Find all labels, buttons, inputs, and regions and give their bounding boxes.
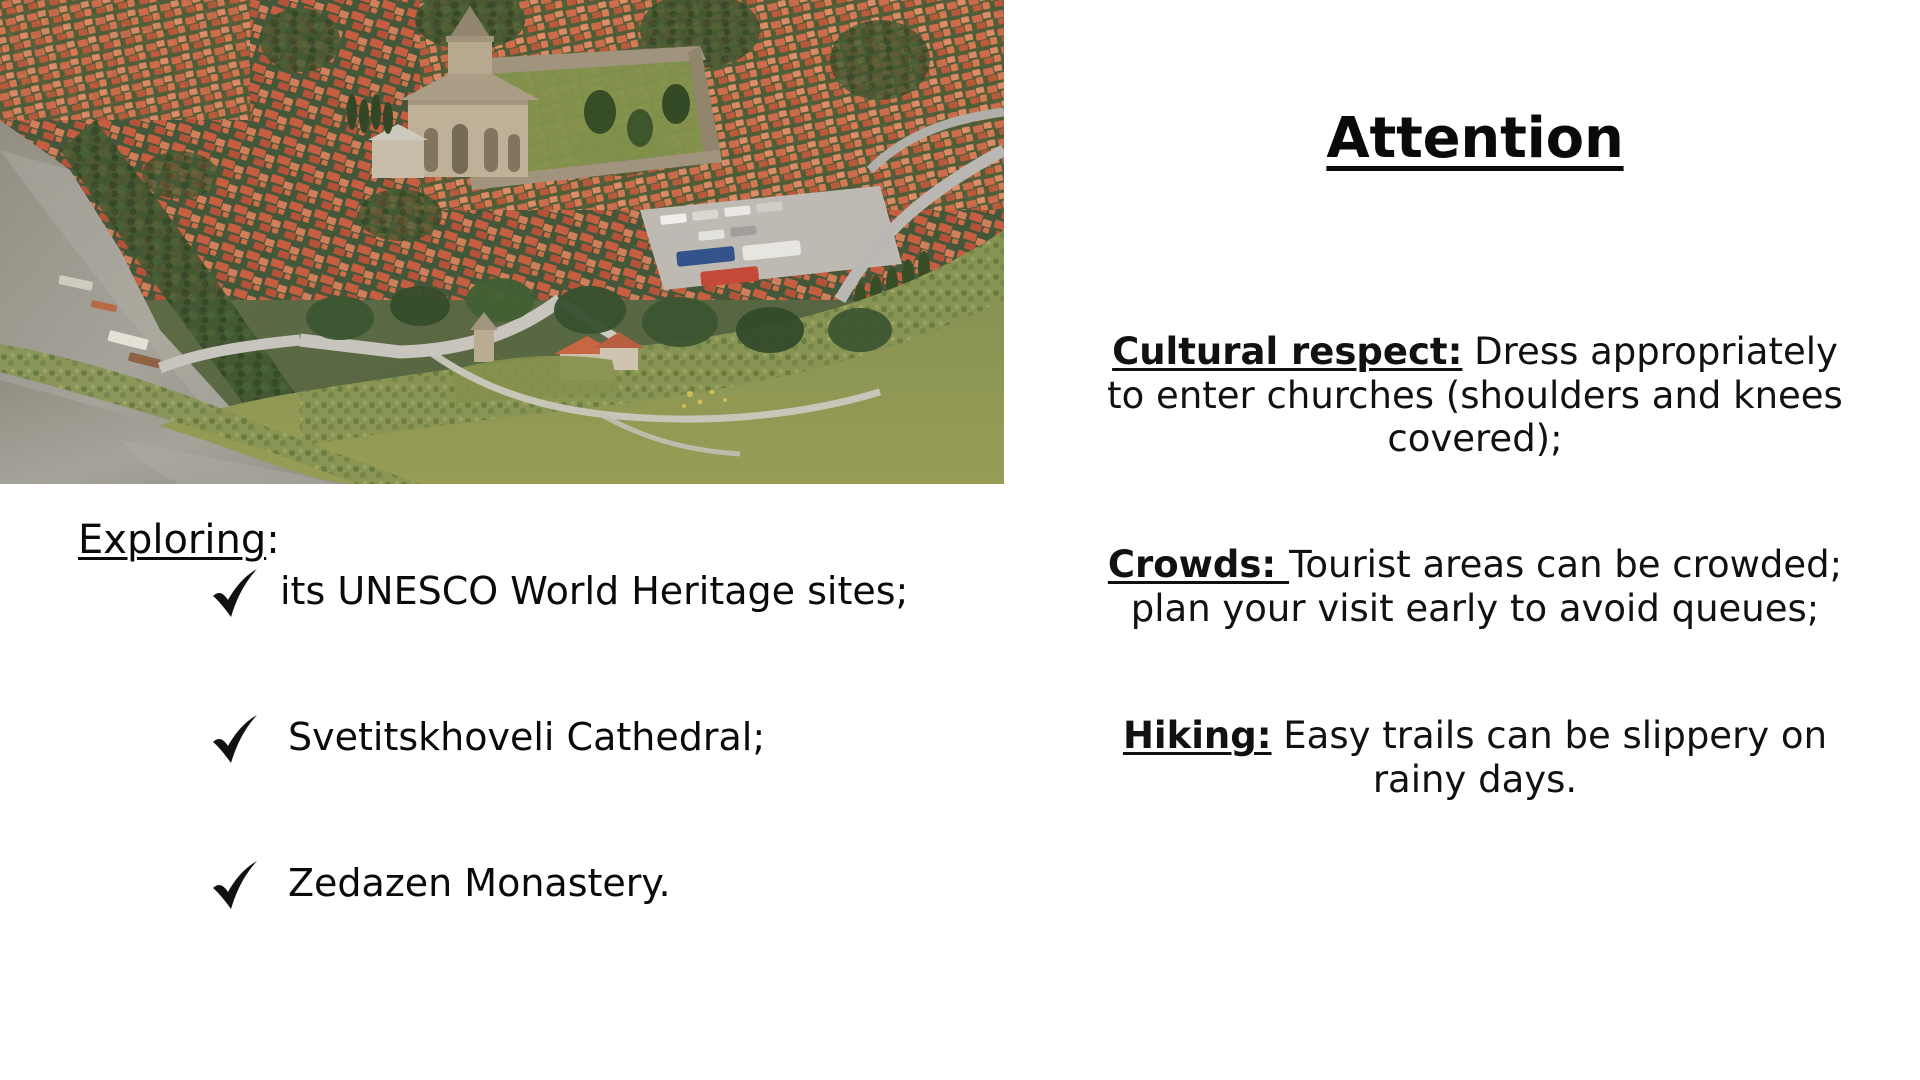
list-item[interactable]: its UNESCO World Heritage sites;	[0, 562, 1004, 708]
list-item[interactable]: Zedazen Monastery.	[0, 854, 1004, 1000]
page-title: Attention	[1030, 108, 1920, 170]
note-lead-label: Hiking:	[1123, 714, 1272, 757]
note-lead-label: Crowds:	[1108, 543, 1289, 586]
page-title-label: Attention	[1326, 106, 1623, 171]
exploring-section: Exploring: its UNESCO World Heritage sit…	[0, 500, 1004, 1060]
note-crowds: Crowds: Tourist areas can be crowded; pl…	[1090, 543, 1860, 630]
check-mark-icon	[210, 567, 262, 623]
check-mark-icon	[210, 713, 262, 769]
exploring-heading-colon: :	[266, 517, 279, 563]
list-item-label: Svetitskhoveli Cathedral;	[288, 716, 765, 760]
note-body-text: Easy trails can be slippery on rainy day…	[1272, 714, 1828, 801]
photo-illustration	[0, 0, 1004, 484]
check-mark-icon	[210, 859, 262, 915]
exploring-heading-label: Exploring	[78, 517, 266, 563]
note-hiking: Hiking: Easy trails can be slippery on r…	[1090, 714, 1860, 801]
note-cultural-respect: Cultural respect: Dress appropriately to…	[1090, 330, 1860, 461]
note-spacer	[1090, 630, 1860, 714]
attention-notes: Cultural respect: Dress appropriately to…	[1090, 330, 1860, 802]
note-spacer	[1090, 461, 1860, 543]
list-item-label: its UNESCO World Heritage sites;	[280, 570, 908, 614]
mtskheta-aerial-photo	[0, 0, 1004, 484]
slide-canvas: Exploring: its UNESCO World Heritage sit…	[0, 0, 1920, 1080]
list-item[interactable]: Svetitskhoveli Cathedral;	[0, 708, 1004, 854]
list-item-label: Zedazen Monastery.	[288, 862, 671, 906]
attention-section: Attention Cultural respect: Dress approp…	[1030, 0, 1920, 1080]
note-lead-label: Cultural respect:	[1112, 330, 1462, 373]
exploring-heading: Exploring:	[78, 517, 280, 564]
exploring-list: its UNESCO World Heritage sites; Svetits…	[0, 562, 1004, 1000]
